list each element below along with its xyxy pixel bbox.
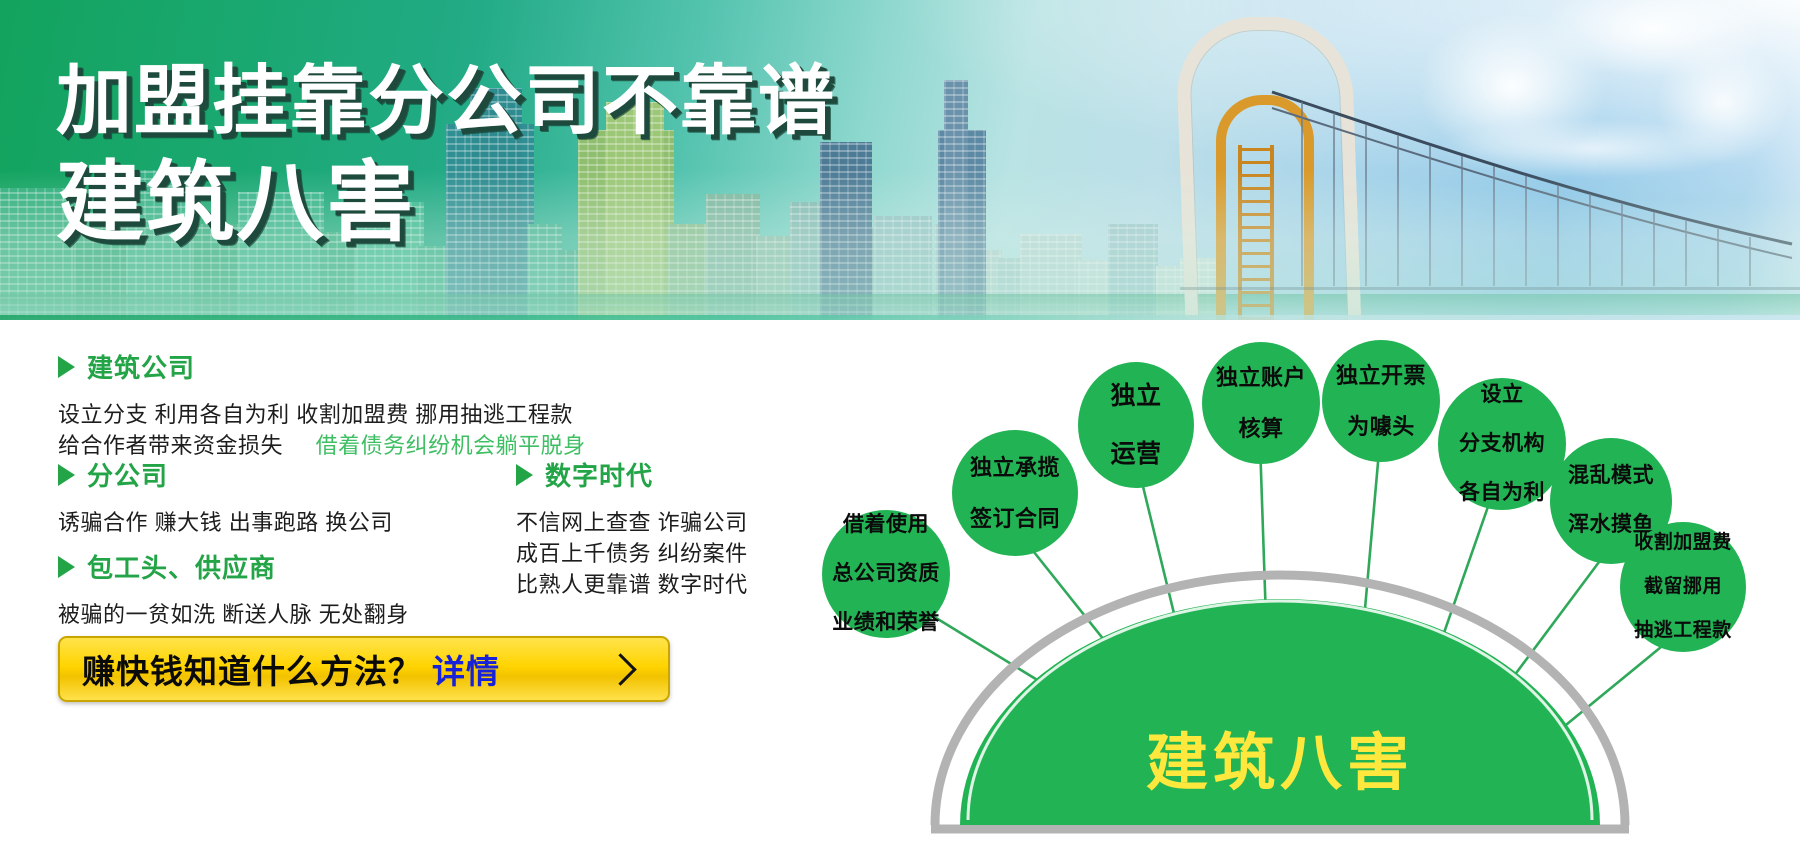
- bubble-line: 收割加盟费: [1630, 532, 1736, 554]
- triangle-bullet-icon: [58, 464, 75, 486]
- section-heading: 数字时代: [516, 456, 748, 493]
- bubble-line: 独立账户: [1212, 365, 1310, 391]
- bubble-text: 借着使用 总公司资质 业绩和荣誉: [824, 513, 948, 635]
- poster-root: 加盟挂靠分公司不靠谱 建筑八害 建筑公司 设立分支 利用各自为利 收割加盟费 挪…: [0, 0, 1800, 844]
- bubble-independent-contracting[interactable]: 独立承揽 签订合同: [952, 430, 1078, 556]
- bubble-independent-operation[interactable]: 独立 运营: [1078, 362, 1194, 488]
- dome-center-label: 建筑八害: [760, 712, 1800, 802]
- triangle-bullet-icon: [58, 356, 75, 378]
- section-title: 分公司: [87, 456, 168, 493]
- bubble-line: 总公司资质: [828, 562, 944, 586]
- bubble-line: 运营: [1106, 440, 1165, 469]
- bubble-text: 设立 分支机构 各自为利: [1451, 383, 1553, 505]
- cta-main-label: 赚快钱知道什么方法？: [82, 645, 422, 693]
- bubble-line: 各自为利: [1455, 481, 1549, 505]
- bubble-harvest-franchise-fees[interactable]: 收割加盟费 截留挪用 抽逃工程款: [1620, 522, 1746, 652]
- section-body: 诱骗合作 赚大钱 出事跑路 换公司: [58, 507, 393, 538]
- bubble-text: 收割加盟费 截留挪用 抽逃工程款: [1626, 532, 1740, 642]
- bubble-text: 独立承揽 签订合同: [962, 455, 1068, 532]
- chevron-right-icon: [604, 653, 637, 686]
- bubble-text: 独立 运营: [1102, 382, 1169, 469]
- section-line-highlight: 借着债务纠纷机会躺平脱身: [316, 433, 586, 458]
- section-title: 包工头、供应商: [87, 548, 276, 585]
- section-heading: 包工头、供应商: [58, 548, 409, 585]
- hero-title-line2: 建筑八害: [56, 157, 836, 249]
- hero-title-line1: 加盟挂靠分公司不靠谱: [56, 62, 836, 141]
- bubble-line: 独立承揽: [966, 455, 1064, 481]
- section-line: 成百上千债务 纠纷案件: [516, 538, 748, 569]
- bubble-line: 独立开票: [1332, 363, 1430, 389]
- section-line: 被骗的一贫如洗 断送人脉 无处翻身: [58, 599, 409, 630]
- cta-button[interactable]: 赚快钱知道什么方法？ 详情: [58, 636, 670, 702]
- bubble-line: 抽逃工程款: [1630, 620, 1736, 642]
- triangle-bullet-icon: [516, 464, 533, 486]
- triangle-bullet-icon: [58, 556, 75, 578]
- bubble-line: 设立: [1455, 383, 1549, 407]
- bubble-line: 分支机构: [1455, 432, 1549, 456]
- section-body: 设立分支 利用各自为利 收割加盟费 挪用抽逃工程款 给合作者带来资金损失 借着债…: [58, 399, 586, 461]
- section-branch-company: 分公司 诱骗合作 赚大钱 出事跑路 换公司: [58, 456, 393, 538]
- section-line: 设立分支 利用各自为利 收割加盟费 挪用抽逃工程款: [58, 399, 586, 430]
- section-line: 诱骗合作 赚大钱 出事跑路 换公司: [58, 507, 393, 538]
- bubble-text: 独立账户 核算: [1208, 365, 1314, 442]
- section-title: 数字时代: [545, 456, 653, 493]
- section-line: 不信网上查查 诈骗公司: [516, 507, 748, 538]
- bubble-line: 独立: [1106, 382, 1165, 411]
- cta-detail-link[interactable]: 详情: [432, 645, 500, 693]
- left-content-panel: 建筑公司 设立分支 利用各自为利 收割加盟费 挪用抽逃工程款 给合作者带来资金损…: [0, 320, 760, 844]
- section-body: 被骗的一贫如洗 断送人脉 无处翻身: [58, 599, 409, 630]
- bubble-line: 借着使用: [828, 513, 944, 537]
- section-construction-company: 建筑公司 设立分支 利用各自为利 收割加盟费 挪用抽逃工程款 给合作者带来资金损…: [58, 348, 586, 461]
- section-title: 建筑公司: [87, 348, 195, 385]
- hero-title: 加盟挂靠分公司不靠谱 建筑八害: [56, 62, 836, 249]
- hero-banner: 加盟挂靠分公司不靠谱 建筑八害: [0, 0, 1800, 320]
- section-digital-age: 数字时代 不信网上查查 诈骗公司 成百上千债务 纠纷案件 比熟人更靠谱 数字时代: [516, 456, 748, 601]
- bubble-text: 混乱模式 浑水摸鱼: [1560, 464, 1662, 537]
- bubble-line: 业绩和荣誉: [828, 611, 944, 635]
- eight-harms-diagram: 建筑八害 借着使用 总公司资质 业绩和荣誉 独立承揽 签订合同 独立 运营: [760, 320, 1800, 844]
- section-body: 不信网上查查 诈骗公司 成百上千债务 纠纷案件 比熟人更靠谱 数字时代: [516, 507, 748, 601]
- section-line: 比熟人更靠谱 数字时代: [516, 569, 748, 600]
- bubble-line: 截留挪用: [1630, 576, 1736, 598]
- section-contractor-supplier: 包工头、供应商 被骗的一贫如洗 断送人脉 无处翻身: [58, 548, 409, 630]
- bubble-line: 签订合同: [966, 506, 1064, 532]
- section-line-text: 给合作者带来资金损失: [58, 433, 283, 458]
- bubble-establish-branches[interactable]: 设立 分支机构 各自为利: [1438, 378, 1566, 510]
- bubble-borrow-qualifications[interactable]: 借着使用 总公司资质 业绩和荣誉: [822, 510, 950, 638]
- bubble-independent-account[interactable]: 独立账户 核算: [1202, 342, 1320, 464]
- bubble-line: 核算: [1212, 416, 1310, 442]
- bubble-line: 为噱头: [1332, 414, 1430, 440]
- section-heading: 建筑公司: [58, 348, 586, 385]
- bubble-line: 混乱模式: [1564, 464, 1658, 488]
- bubble-text: 独立开票 为噱头: [1328, 363, 1434, 440]
- section-heading: 分公司: [58, 456, 393, 493]
- bubble-independent-invoicing[interactable]: 独立开票 为噱头: [1322, 340, 1440, 462]
